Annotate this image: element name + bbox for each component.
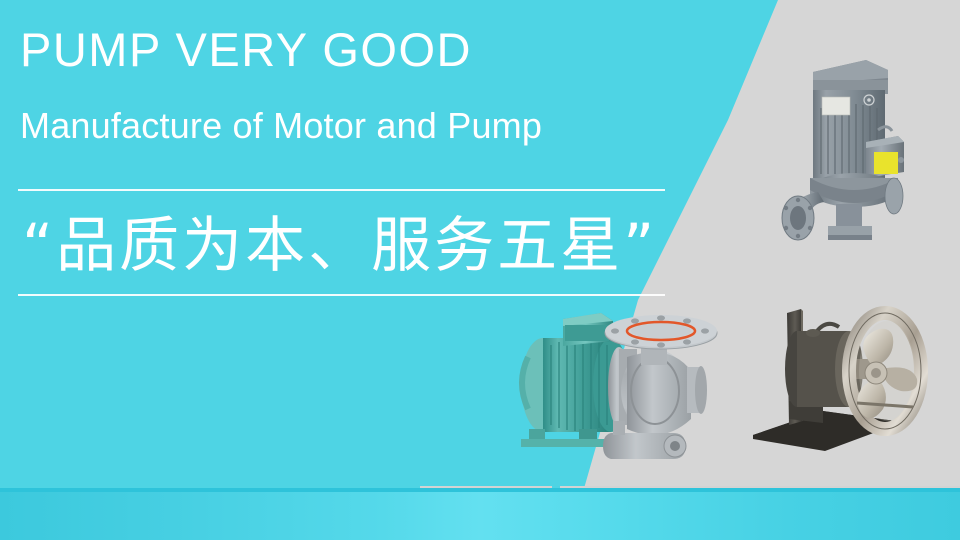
product-image-horizontal-centrifugal-pump bbox=[495, 305, 733, 467]
product-image-vertical-inline-pipeline-pump bbox=[770, 50, 950, 265]
slogan-text: “品质为本、服务五星” bbox=[22, 205, 682, 287]
page-title: PUMP VERY GOOD bbox=[20, 26, 472, 73]
promo-banner: PUMP VERY GOOD Manufacture of Motor and … bbox=[0, 0, 960, 540]
page-subtitle: Manufacture of Motor and Pump bbox=[20, 108, 542, 144]
product-image-submersible-mixer bbox=[745, 295, 950, 463]
bottom-divider-rule bbox=[18, 294, 665, 296]
top-divider-rule bbox=[18, 189, 665, 191]
bottom-accent-band bbox=[0, 492, 960, 540]
